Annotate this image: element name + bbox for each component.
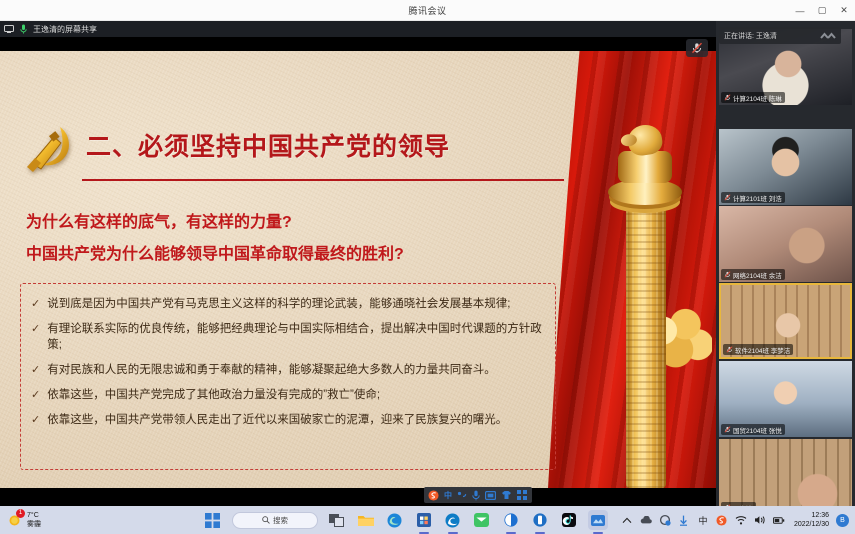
active-speaker-label: 正在讲话: 王逸清 — [724, 31, 777, 41]
microphone-muted-icon — [724, 94, 731, 101]
participant-name-badge: 网络2104班 余洁 — [721, 269, 785, 280]
maximize-button[interactable]: ▢ — [811, 0, 833, 21]
participant-name: 国贸2104班 张悦 — [733, 425, 782, 435]
battery-icon[interactable] — [773, 514, 785, 526]
microphone-muted-icon — [724, 271, 731, 278]
title-underline — [82, 179, 564, 181]
check-icon: ✓ — [31, 412, 40, 428]
list-item-text: 说到底是因为中国共产党有马克思主义这样的科学的理论武装，能够通晓社会发展基本规律… — [47, 296, 510, 312]
participant-tile[interactable]: 网络2104班 余洁 — [719, 206, 852, 282]
check-icon: ✓ — [31, 387, 40, 403]
participant-tile[interactable]: 软件2104班 李梦洁 — [719, 283, 852, 359]
participant-name: 软件2104班 李梦洁 — [735, 345, 790, 355]
sogou-ime-toolbar[interactable]: 中 — [424, 487, 532, 503]
sogou-icon[interactable] — [716, 514, 728, 526]
participant-tile[interactable]: 王逸清 — [719, 439, 852, 515]
windows-taskbar: 1 7°C 雾霾 搜索 — [0, 506, 855, 534]
participant-tile[interactable]: 计算2101班 刘浩 — [719, 129, 852, 205]
taskbar-clock[interactable]: 12:36 2022/12/30 — [792, 511, 829, 529]
microphone-muted-icon — [724, 426, 731, 433]
list-item-text: 依靠这些，中国共产党带领人民走出了近代以来国破家亡的泥潭，迎来了民族复兴的曙光。 — [47, 412, 507, 428]
window-title: 腾讯会议 — [408, 4, 446, 17]
file-explorer-icon[interactable] — [356, 510, 376, 530]
microphone-muted-icon — [724, 194, 731, 201]
list-item-text: 依靠这些，中国共产党完成了其他政治力量没有完成的”救亡”使命; — [47, 387, 380, 403]
weather-temperature: 7°C — [27, 511, 41, 520]
bullet-list-box: ✓ 说到底是因为中国共产党有马克思主义这样的科学的理论武装，能够通晓社会发展基本… — [20, 283, 556, 470]
microphone-icon — [18, 24, 29, 35]
list-item-text: 有理论联系实际的优良传统，能够把经典理论与中国实际相结合，提出解决中国时代课题的… — [47, 321, 545, 353]
chevrons-up-icon[interactable] — [820, 27, 836, 45]
start-icon[interactable] — [203, 510, 223, 530]
screen-share-label: 王逸清的屏幕共享 — [33, 24, 97, 35]
list-item: ✓ 有理论联系实际的优良传统，能够把经典理论与中国实际相结合，提出解决中国时代课… — [31, 321, 545, 353]
weather-sun-icon: 1 — [6, 512, 23, 529]
skin-icon[interactable] — [501, 490, 512, 500]
screen-share-area: 王逸清的屏幕共享 — [0, 21, 716, 506]
window-title-bar: 腾讯会议 — ▢ ✕ — [0, 0, 855, 21]
phone-link-icon[interactable] — [530, 510, 550, 530]
lens-icon[interactable] — [501, 510, 521, 530]
muted-indicator-badge — [686, 39, 708, 57]
cpc-emblem-icon — [20, 121, 78, 177]
window-controls: — ▢ ✕ — [789, 0, 855, 21]
participant-name: 网络2104班 余洁 — [733, 270, 782, 280]
wechat-icon[interactable] — [472, 510, 492, 530]
punctuation-icon[interactable] — [457, 491, 467, 500]
edge-icon[interactable] — [385, 510, 405, 530]
avatar[interactable]: B — [836, 514, 849, 527]
more-icon[interactable] — [517, 490, 527, 500]
list-item-text: 有对民族和人民的无限忠诚和勇于奉献的精神，能够凝聚起绝大多数人的力量共同奋斗。 — [47, 362, 496, 378]
notification-badge: 1 — [16, 509, 25, 518]
participant-name: 计算2104班 陈琳 — [733, 93, 782, 103]
tencent-meeting-icon[interactable] — [588, 510, 608, 530]
participant-name-badge: 计算2101班 刘浩 — [721, 192, 785, 203]
screen-share-banner: 王逸清的屏幕共享 — [0, 21, 716, 37]
weather-condition: 雾霾 — [27, 520, 41, 529]
edge-legacy-icon[interactable] — [443, 510, 463, 530]
participant-name-badge: 国贸2104班 张悦 — [721, 424, 785, 435]
show-hidden-icons-icon[interactable] — [621, 514, 633, 526]
slide-question-2: 中国共产党为什么能够领导中国革命取得最终的胜利? — [26, 240, 404, 264]
system-tray: 中 12:36 2022/12/30 B — [621, 511, 855, 529]
download-icon[interactable] — [678, 514, 690, 526]
toolbox-icon[interactable] — [485, 491, 496, 500]
clock-time: 12:36 — [794, 511, 829, 520]
list-item: ✓ 有对民族和人民的无限忠诚和勇于奉献的精神，能够凝聚起绝大多数人的力量共同奋斗… — [31, 362, 545, 378]
participant-name: 计算2101班 刘浩 — [733, 193, 782, 203]
microphone-muted-icon — [726, 346, 733, 353]
slide-title: 二、必须坚持中国共产党的领导 — [86, 127, 450, 163]
douyin-icon[interactable] — [559, 510, 579, 530]
close-button[interactable]: ✕ — [833, 0, 855, 21]
search-input[interactable]: 搜索 — [232, 512, 318, 529]
sync-icon[interactable] — [659, 514, 671, 526]
search-placeholder: 搜索 — [273, 515, 288, 526]
presentation-slide: 二、必须坚持中国共产党的领导 为什么有这样的底气，有这样的力量? 中国共产党为什… — [0, 51, 716, 488]
ime-mode-icon[interactable]: 中 — [697, 514, 709, 526]
slide-question-1: 为什么有这样的底气，有这样的力量? — [26, 208, 292, 232]
check-icon: ✓ — [31, 362, 40, 378]
weather-widget[interactable]: 1 7°C 雾霾 — [0, 511, 190, 529]
onedrive-icon[interactable] — [640, 514, 652, 526]
search-icon — [262, 511, 270, 529]
clock-date: 2022/12/30 — [794, 520, 829, 529]
microsoft-store-icon[interactable] — [414, 510, 434, 530]
list-item: ✓ 依靠这些，中国共产党带领人民走出了近代以来国破家亡的泥潭，迎来了民族复兴的曙… — [31, 412, 545, 428]
check-icon: ✓ — [31, 321, 40, 353]
check-icon: ✓ — [31, 296, 40, 312]
participant-tile[interactable]: 国贸2104班 张悦 — [719, 361, 852, 437]
wifi-icon[interactable] — [735, 514, 747, 526]
volume-icon[interactable] — [754, 514, 766, 526]
voice-input-icon[interactable] — [472, 490, 480, 501]
list-item: ✓ 说到底是因为中国共产党有马克思主义这样的科学的理论武装，能够通晓社会发展基本… — [31, 296, 545, 312]
task-view-icon[interactable] — [327, 510, 347, 530]
sogou-logo-icon[interactable] — [428, 490, 439, 501]
microphone-muted-icon — [691, 42, 703, 54]
taskbar-icon-group: 搜索 — [190, 510, 621, 530]
minimize-button[interactable]: — — [789, 0, 811, 21]
participant-name-badge: 计算2104班 陈琳 — [721, 92, 785, 103]
participant-name-badge: 软件2104班 李梦洁 — [723, 344, 793, 355]
meeting-window: 王逸清的屏幕共享 — [0, 21, 855, 506]
screen-share-icon — [3, 24, 14, 35]
participant-video-rail: 正在讲话: 王逸清 计算2104班 陈琳 计算2101班 刘浩 网络210 — [716, 21, 855, 506]
list-item: ✓ 依靠这些，中国共产党完成了其他政治力量没有完成的”救亡”使命; — [31, 387, 545, 403]
active-speaker-banner: 正在讲话: 王逸清 — [719, 27, 841, 44]
chinese-mode-icon[interactable]: 中 — [444, 490, 452, 501]
huabiao-column-decoration — [600, 109, 688, 488]
